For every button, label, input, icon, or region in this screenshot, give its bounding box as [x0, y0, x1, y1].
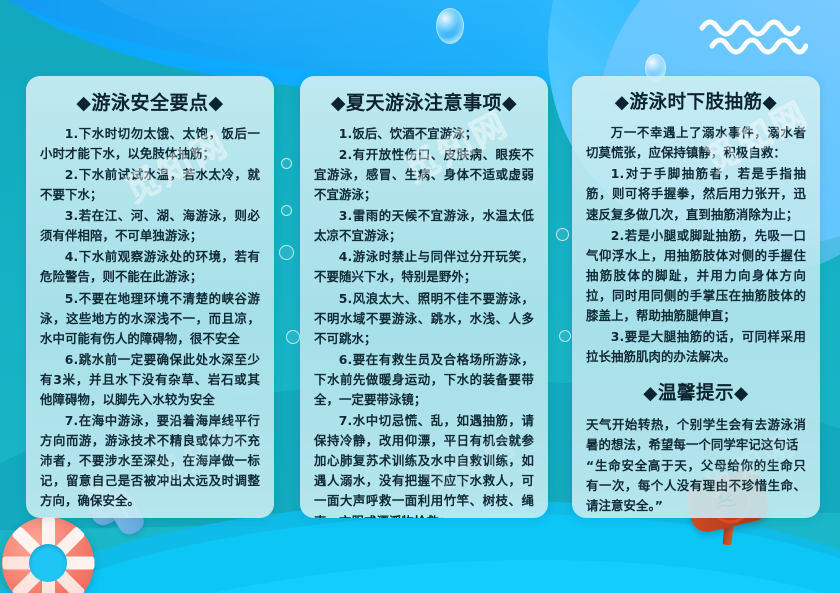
- life-ring-icon: [2, 517, 94, 593]
- card-paragraph: 3.要是大腿抽筋的话，可同样采用拉长抽筋肌肉的办法解决。: [586, 327, 806, 367]
- poster-canvas: ◆游泳安全要点◆ 1.下水时切勿太饿、太饱，饭后一小时才能下水，以免肢体抽筋； …: [0, 0, 840, 593]
- card-subsection-title: ◆温馨提示◆: [586, 383, 806, 405]
- card-paragraph: 万一不幸遇上了溺水事件，溺水者切莫慌张，应保持镇静，积极自救：: [586, 123, 806, 163]
- bubble-ring-4: [286, 330, 300, 344]
- card-paragraph: 1.下水时切勿太饿、太饱，饭后一小时才能下水，以免肢体抽筋；: [40, 124, 260, 164]
- card-paragraph: 2.下水前试试水温，若水太冷，就不要下水；: [40, 165, 260, 205]
- card-paragraph: 2.有开放性伤口、皮肤病、眼疾不宜游泳，感冒、生病、身体不适或虚弱不宜游泳；: [314, 145, 534, 205]
- card-paragraph: 1.对于手脚抽筋者，若是手指抽筋，则可将手握拳，然后用力张开，迅速反复多做几次，…: [586, 164, 806, 224]
- bubble-ring-5: [556, 228, 569, 241]
- card-title: ◆夏天游泳注意事项◆: [314, 92, 534, 115]
- life-ring-hole: [29, 544, 67, 582]
- card-paragraph: 3.雷雨的天候不宜游泳，水温太低太凉不宜游泳；: [314, 206, 534, 246]
- card-paragraph: 7.在海中游泳，要沿着海岸线平行方向而游，游泳技术不精良或体力不充沛者，不要涉水…: [40, 411, 260, 511]
- bubble-ring-1: [281, 158, 292, 169]
- card-title: ◆游泳安全要点◆: [40, 92, 260, 115]
- card-paragraph: 天气开始转热，个别学生会有去游泳消暑的想法，希望每一个同学牢记这句话: [586, 415, 806, 455]
- card-paragraph: 4.游泳时禁止与同伴过分开玩笑，不要随兴下水，特别是野外；: [314, 247, 534, 287]
- info-card-summer-swimming-notes: ◆夏天游泳注意事项◆ 1.饭后、饮酒不宜游泳； 2.有开放性伤口、皮肤病、眼疾不…: [300, 76, 548, 518]
- card-paragraph: 7.水中切忌慌、乱，如遇抽筋，请保持冷静，改用仰漂，平日有机会就参加心肺复苏术训…: [314, 411, 534, 518]
- card-paragraph: 6.要在有救生员及合格场所游泳，下水前先做暖身运动，下水的装备要带全，一定要带泳…: [314, 350, 534, 410]
- card-paragraph: 5.风浪太大、照明不佳不要游泳，不明水域不要游泳、跳水，水浅、人多不可跳水；: [314, 289, 534, 349]
- bubble-ring-2: [281, 205, 292, 216]
- wave-squiggle-icon: [698, 14, 808, 58]
- card-paragraph: 4.下水前观察游泳处的环境，若有危险警告，则不能在此游泳；: [40, 247, 260, 287]
- info-card-swimming-safety-points: ◆游泳安全要点◆ 1.下水时切勿太饿、太饱，饭后一小时才能下水，以免肢体抽筋； …: [26, 76, 274, 518]
- bubble-ring-3: [279, 245, 294, 260]
- card-paragraph: 3.若在江、河、湖、海游泳，则必须有伴相陪，不可单独游泳；: [40, 206, 260, 246]
- info-card-leg-cramp: ◆游泳时下肢抽筋◆ 万一不幸遇上了溺水事件，溺水者切莫慌张，应保持镇静，积极自救…: [572, 76, 820, 518]
- card-paragraph: 1.饭后、饮酒不宜游泳；: [314, 124, 534, 144]
- card-title: ◆游泳时下肢抽筋◆: [586, 92, 806, 114]
- bubble-ring-6: [559, 330, 571, 342]
- card-paragraph: 6.跳水前一定要确保此处水深至少有3米，并且水下没有杂草、岩石或其他障碍物，以脚…: [40, 350, 260, 410]
- card-paragraph: 5.不要在地理环境不清楚的峡谷游泳，这些地方的水深浅不一，而且凉，水中可能有伤人…: [40, 289, 260, 349]
- card-paragraph: “生命安全高于天，父母给你的生命只有一次，每个人没有理由不珍惜生命、请注意安全。…: [586, 456, 806, 516]
- bubble-large: [436, 8, 464, 44]
- card-paragraph: 2.若是小腿或脚趾抽筋，先吸一口气仰浮水上，用抽筋肢体对侧的手握住抽筋肢体的脚趾…: [586, 226, 806, 326]
